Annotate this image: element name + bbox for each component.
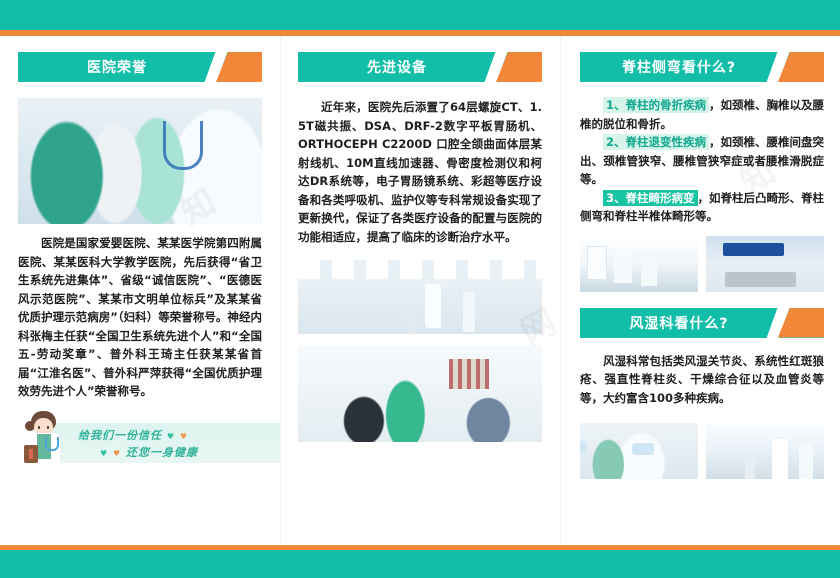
photo-row-top (580, 236, 824, 292)
section-title: 医院荣誉 (18, 57, 262, 77)
doctor-blood-pressure-photo (298, 346, 542, 442)
masked-medical-staff-photo (580, 423, 698, 479)
section-header-scoliosis: 脊柱侧弯看什么? (580, 52, 824, 82)
nurse-station-photo (706, 236, 824, 292)
heart-icon-4: ♥ (113, 449, 121, 458)
hospital-honor-body: 医院是国家爱婴医院、某某医学院第四附属医院、某某医科大学教学医院，先后获得“省卫… (18, 234, 262, 401)
hospital-corridor-photo (580, 236, 698, 292)
heart-icon-1: ♥ (167, 432, 175, 441)
slogan-line-1: 给我们一份信任 (78, 429, 162, 442)
heart-icon-2: ♥ (180, 432, 188, 441)
highlight-chip: 1、脊柱的骨折疾病 (603, 97, 709, 113)
heart-icon-3: ♥ (100, 449, 108, 458)
nurse-mascot-icon (20, 409, 68, 467)
bottom-teal-band (0, 550, 840, 578)
slogan-text: 给我们一份信任 ♥ ♥ ♥ ♥ 还您一身健康 (78, 428, 198, 462)
scoliosis-item-3: 3、脊柱畸形病变，如脊柱后凸畸形、脊柱侧弯和脊柱半椎体畸形等。 (580, 189, 824, 226)
section-header-hospital-honor: 医院荣誉 (18, 52, 262, 82)
rheumatology-body: 风湿科常包括类风湿关节炎、系统性红斑狼疮、强直性脊柱炎、干燥综合征以及血管炎等等… (580, 352, 824, 408)
laboratory-equipment-photo (298, 260, 542, 334)
column-middle: 先进设备 近年来，医院先后添置了64层螺旋CT、1. 5T磁共振、DSA、DRF… (280, 36, 560, 545)
column-right: 脊柱侧弯看什么? 1、脊柱的骨折疾病，如颈椎、胸椎以及腰椎的脱位和骨折。 2、脊… (560, 36, 840, 545)
section-header-rheumatology: 风湿科看什么? (580, 308, 824, 338)
brochure-page: 医院荣誉 医院是国家爱婴医院、某某医学院第四附属医院、某某医科大学教学医院，先后… (0, 0, 840, 578)
scoliosis-item-1: 1、脊柱的骨折疾病，如颈椎、胸椎以及腰椎的脱位和骨折。 (580, 96, 824, 133)
slogan-banner: 给我们一份信任 ♥ ♥ ♥ ♥ 还您一身健康 (0, 409, 280, 467)
section-title: 先进设备 (298, 57, 542, 77)
photo-row-bottom (580, 423, 824, 479)
section-header-advanced-equipment: 先进设备 (298, 52, 542, 82)
section-title: 脊柱侧弯看什么? (580, 57, 824, 77)
hospital-team-photo (18, 98, 262, 224)
advanced-equipment-body: 近年来，医院先后添置了64层螺旋CT、1. 5T磁共振、DSA、DRF-2数字平… (298, 98, 542, 246)
column-left: 医院荣誉 医院是国家爱婴医院、某某医学院第四附属医院、某某医科大学教学医院，先后… (0, 36, 280, 545)
scoliosis-item-2: 2、脊柱退变性疾病，如颈椎、腰椎间盘突出、颈椎管狭窄、腰椎管狭窄症或者腰椎滑脱症… (580, 133, 824, 189)
highlight-chip: 2、脊柱退变性疾病 (603, 134, 709, 150)
slogan-line-2: 还您一身健康 (126, 446, 198, 459)
top-teal-band (0, 0, 840, 30)
section-title: 风湿科看什么? (580, 313, 824, 333)
operating-room-photo (706, 423, 824, 479)
highlight-chip: 3、脊柱畸形病变 (603, 190, 698, 206)
